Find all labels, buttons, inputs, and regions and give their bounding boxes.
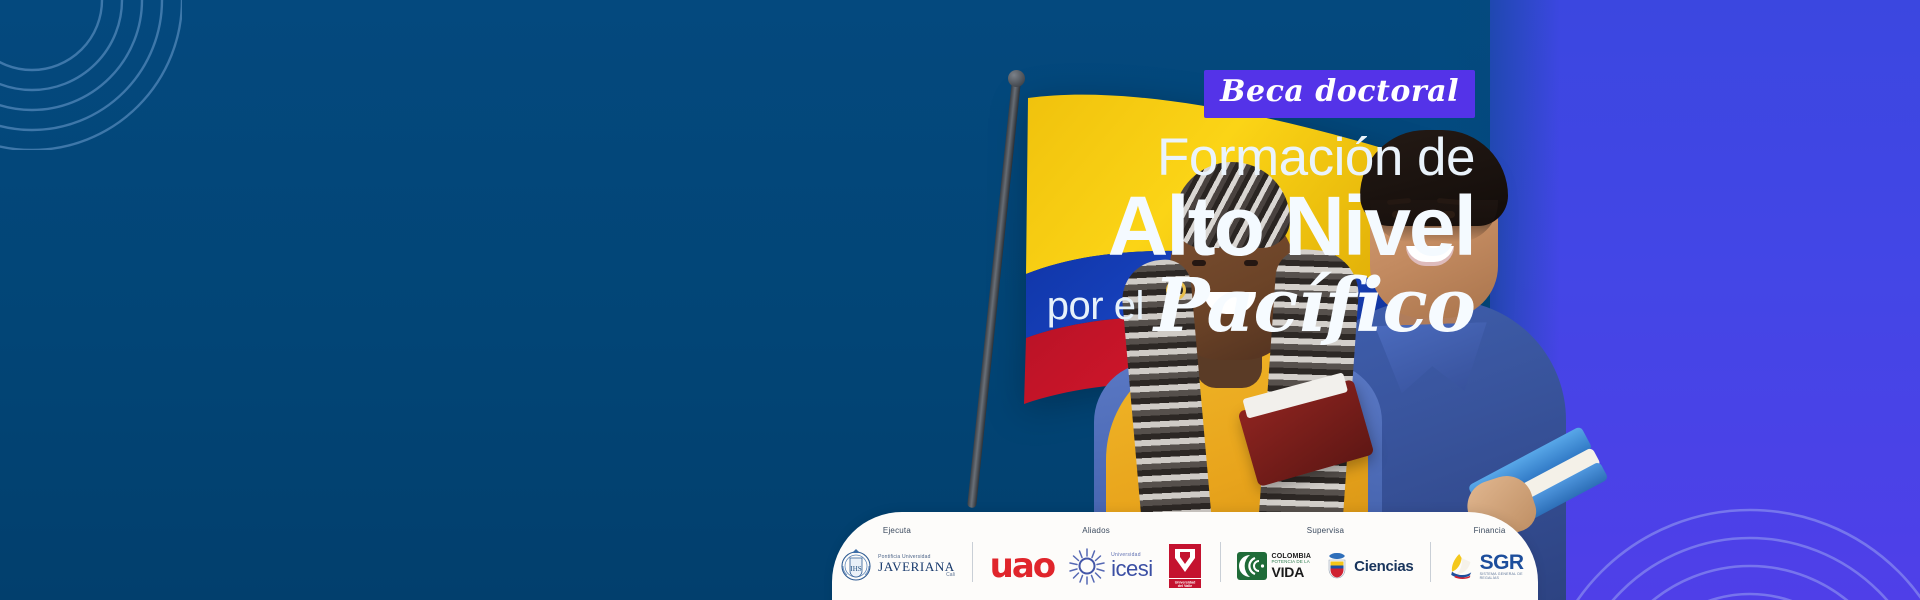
logo-group-aliados: Aliados uao bbox=[977, 526, 1216, 590]
svg-text:del Valle: del Valle bbox=[1177, 584, 1191, 588]
logo-divider bbox=[1430, 542, 1431, 582]
concentric-arcs-icon bbox=[0, 0, 182, 150]
uao-logo: uao bbox=[990, 549, 1055, 583]
ciencias-logo: Ciencias bbox=[1325, 552, 1413, 580]
icesi-logo: Universidad icesi bbox=[1068, 547, 1153, 585]
logo-group-supervisa: Supervisa COLOMBIA POTENCIA DE LA bbox=[1224, 526, 1426, 590]
headline-block: Beca doctoral Formación de Alto Nivel po… bbox=[855, 70, 1475, 343]
icesi-sunburst-icon bbox=[1068, 547, 1106, 585]
javeriana-logo: IHS Pontificia Universidad JAVERIANA Cal… bbox=[839, 546, 955, 586]
headline-line-1: Formación de bbox=[855, 130, 1475, 185]
cpv-line-3: VIDA bbox=[1271, 565, 1311, 580]
colombia-shield-icon bbox=[1325, 552, 1349, 580]
logo-divider bbox=[1220, 542, 1221, 582]
promo-banner: Beca doctoral Formación de Alto Nivel po… bbox=[0, 0, 1920, 600]
colombia-wave-icon bbox=[1237, 551, 1267, 581]
concentric-arcs-icon bbox=[1540, 420, 1920, 600]
javeriana-crest-icon: IHS bbox=[839, 546, 873, 586]
sgr-subtitle: SISTEMA GENERAL DE REGALÍAS bbox=[1480, 573, 1531, 580]
group-label-supervisa: Supervisa bbox=[1307, 526, 1344, 535]
javeriana-name: JAVERIANA bbox=[878, 560, 955, 573]
logo-divider bbox=[972, 542, 973, 582]
ciencias-name: Ciencias bbox=[1354, 558, 1413, 575]
sponsor-logo-panel: Ejecuta IHS Pontificia bbox=[832, 512, 1538, 600]
logo-group-financia: Financia SGR SISTEMA GENERAL DE REGALÍAS bbox=[1435, 526, 1544, 590]
badge-beca-doctoral: Beca doctoral bbox=[1204, 70, 1475, 118]
group-label-ejecuta: Ejecuta bbox=[883, 526, 911, 535]
sgr-name: SGR bbox=[1480, 552, 1531, 573]
svg-text:IHS: IHS bbox=[850, 565, 861, 573]
sgr-sail-icon bbox=[1448, 549, 1475, 583]
icesi-name: icesi bbox=[1111, 558, 1153, 580]
headline-line-3-script: Pacífico bbox=[1154, 263, 1475, 349]
headline-line-3-prefix: por el bbox=[1047, 284, 1144, 328]
logo-group-ejecuta: Ejecuta IHS Pontificia bbox=[826, 526, 968, 590]
colombia-potencia-vida-logo: COLOMBIA POTENCIA DE LA VIDA bbox=[1237, 551, 1311, 581]
javeriana-city: Cali bbox=[946, 573, 955, 578]
group-label-aliados: Aliados bbox=[1082, 526, 1110, 535]
headline-line-3: por elPacífico bbox=[855, 269, 1475, 343]
headline-line-2: Alto Nivel bbox=[855, 185, 1475, 267]
sgr-logo: SGR SISTEMA GENERAL DE REGALÍAS bbox=[1448, 549, 1531, 583]
group-label-financia: Financia bbox=[1474, 526, 1506, 535]
univalle-logo: Universidad del Valle bbox=[1167, 543, 1203, 589]
